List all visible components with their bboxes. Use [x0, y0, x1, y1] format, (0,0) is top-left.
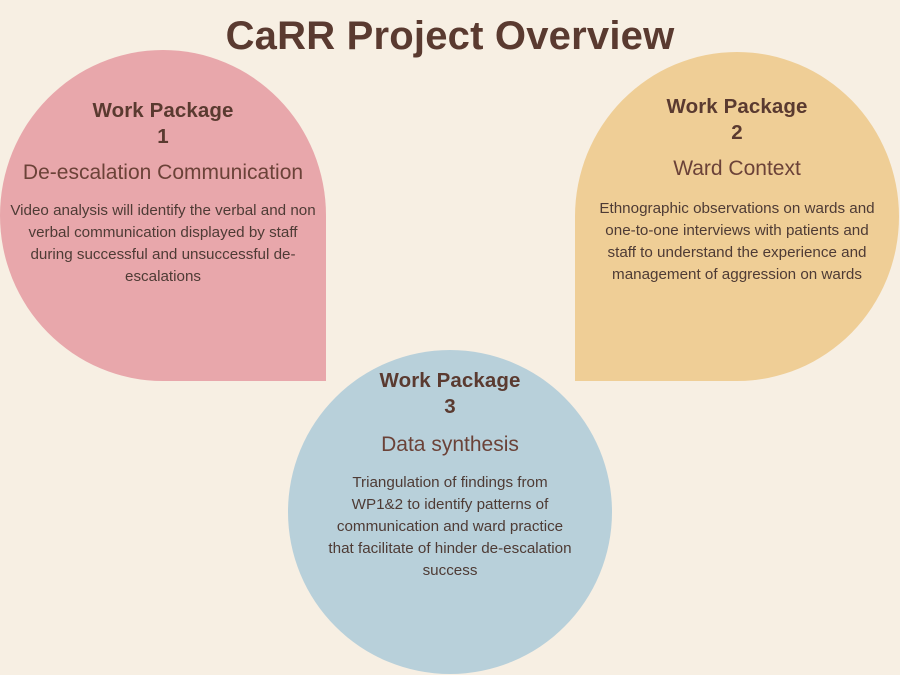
work-package-1-subtitle: De-escalation Communication: [6, 159, 320, 186]
work-package-2-number: 2: [593, 120, 881, 146]
work-package-2-subtitle: Ward Context: [593, 155, 881, 182]
work-package-1-body: Video analysis will identify the verbal …: [6, 200, 320, 288]
work-package-2-heading: Work Package: [593, 94, 881, 120]
work-package-3-body: Triangulation of findings from WP1&2 to …: [328, 472, 572, 582]
work-package-2-body: Ethnographic observations on wards and o…: [593, 198, 881, 286]
work-package-2-shape: Work Package 2 Ward Context Ethnographic…: [575, 52, 899, 381]
work-package-3-shape: Work Package 3 Data synthesis Triangulat…: [288, 350, 612, 674]
work-package-1-shape: Work Package 1 De-escalation Communicati…: [0, 50, 326, 381]
work-package-3-number: 3: [328, 394, 572, 420]
work-package-1-heading: Work Package: [6, 98, 320, 124]
work-package-3-heading: Work Package: [328, 368, 572, 394]
diagram-canvas: CaRR Project Overview Work Package 1 De-…: [0, 0, 900, 675]
work-package-1-content: Work Package 1 De-escalation Communicati…: [0, 98, 326, 288]
work-package-3-content: Work Package 3 Data synthesis Triangulat…: [288, 368, 612, 582]
work-package-3-subtitle: Data synthesis: [328, 431, 572, 458]
work-package-1-number: 1: [6, 124, 320, 150]
page-title: CaRR Project Overview: [0, 14, 900, 59]
work-package-2-content: Work Package 2 Ward Context Ethnographic…: [575, 94, 899, 286]
